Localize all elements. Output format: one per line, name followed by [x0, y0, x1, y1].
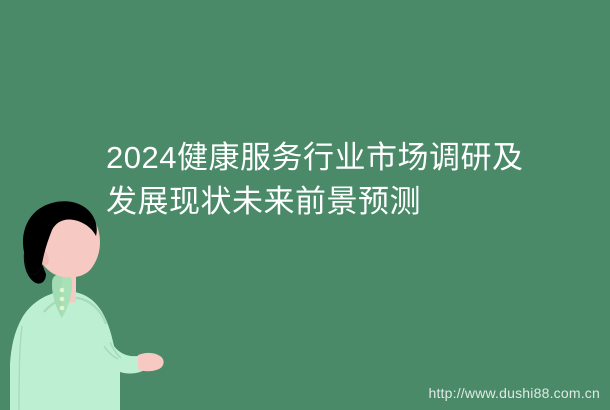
watermark-url: http://www.dushi88.com.cn [428, 384, 600, 402]
title-line-2: 发展现状未来前景预测 [106, 180, 558, 224]
cover-image: 2024健康服务行业市场调研及 发展现状未来前景预测 http://www.du… [0, 0, 610, 410]
collar-buttons [60, 288, 65, 311]
person-illustration [0, 196, 200, 410]
title-line-1: 2024健康服务行业市场调研及 [106, 136, 558, 180]
page-title: 2024健康服务行业市场调研及 发展现状未来前景预测 [106, 136, 558, 224]
hand-shape [138, 353, 164, 371]
shirt-shape [10, 291, 152, 410]
